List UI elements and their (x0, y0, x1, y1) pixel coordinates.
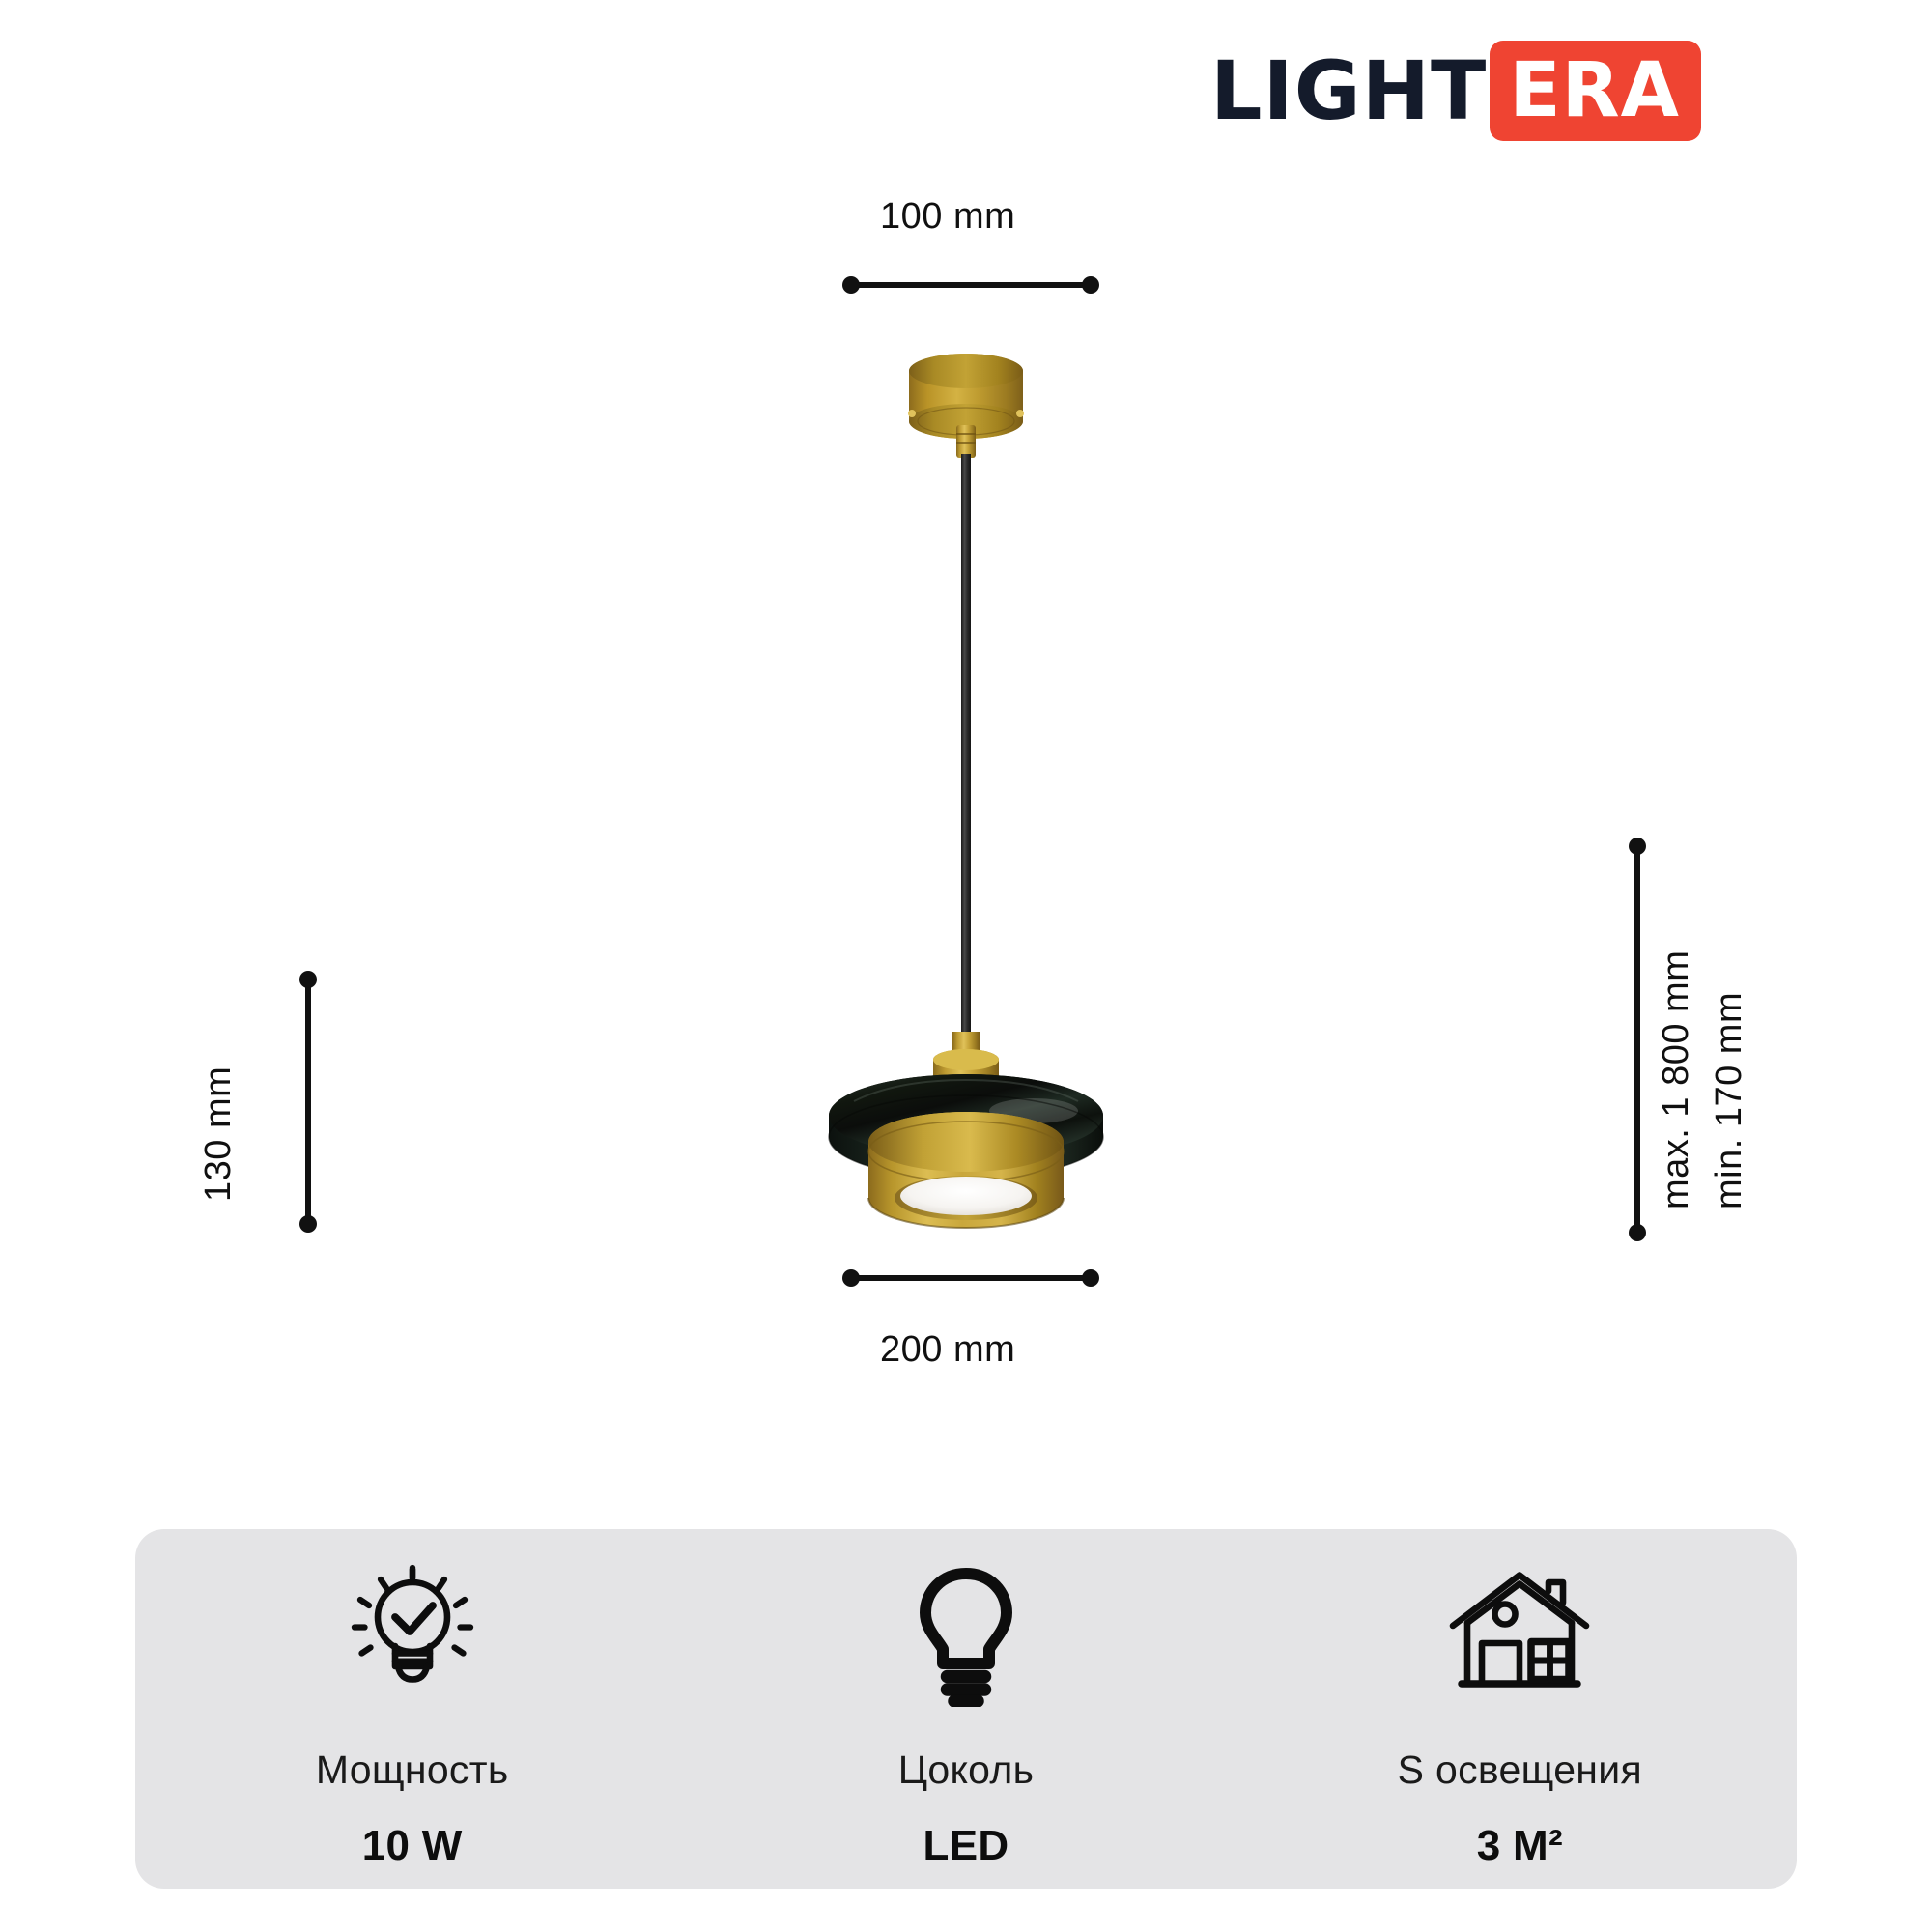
ceiling-canopy (908, 354, 1024, 458)
spec-item-power: Мощность 10 W (135, 1529, 689, 1889)
logo-text-light: LIGHT (1210, 50, 1487, 131)
socket-stem (952, 1032, 980, 1057)
dimension-line-top-width (850, 282, 1092, 288)
led-diffuser-rim (895, 1176, 1037, 1220)
spec-value-power: 10 W (362, 1822, 463, 1870)
lamp-head (829, 1032, 1103, 1228)
logo-era-badge: ERA (1490, 41, 1701, 141)
specifications-panel: Мощность 10 W Цоколь LED (135, 1529, 1797, 1889)
spec-title-socket: Цоколь (898, 1747, 1035, 1793)
shade-marble-top (829, 1074, 1103, 1157)
led-diffuser (900, 1177, 1032, 1215)
spec-value-area: 3 M² (1477, 1822, 1563, 1870)
spec-value-socket: LED (923, 1822, 1009, 1870)
dimension-label-top-width: 100 mm (880, 196, 1015, 238)
spec-title-power: Мощность (316, 1747, 509, 1793)
suspension-cord (961, 454, 971, 1048)
spec-title-area: S освещения (1398, 1747, 1642, 1793)
shade-brass-ring (868, 1112, 1064, 1228)
shade-marble-edge (829, 1074, 1103, 1179)
house-icon (1447, 1562, 1592, 1707)
dimension-label-bottom-width: 200 mm (880, 1329, 1015, 1371)
dimension-dot-right-bottom (1629, 1224, 1646, 1241)
dimension-label-suspension-max: max. 1 800 mm (1656, 951, 1697, 1209)
dimension-line-shade-height (305, 979, 311, 1223)
dimension-dot-bottom-right (1082, 1269, 1099, 1287)
bulb-check-icon (340, 1562, 485, 1707)
dimension-dot-top-left (842, 276, 860, 294)
spec-item-socket: Цоколь LED (689, 1529, 1242, 1889)
dimension-label-shade-height: 130 mm (198, 1066, 240, 1202)
dimension-label-suspension-min: min. 170 mm (1709, 992, 1750, 1209)
dimension-dot-top-right (1082, 276, 1099, 294)
dimension-dot-left-bottom (299, 1215, 317, 1233)
dimension-dot-left-top (299, 971, 317, 988)
dimension-dot-bottom-left (842, 1269, 860, 1287)
bulb-socket-icon (894, 1562, 1038, 1707)
spec-item-area: S освещения 3 M² (1243, 1529, 1797, 1889)
socket-cylinder (933, 1049, 999, 1130)
dimension-dot-right-top (1629, 838, 1646, 855)
dimension-line-bottom-width (850, 1275, 1092, 1281)
brand-logo: LIGHT ERA (1210, 37, 1701, 145)
dimension-line-suspension (1634, 845, 1640, 1232)
logo-text-era: ERA (1509, 53, 1680, 128)
